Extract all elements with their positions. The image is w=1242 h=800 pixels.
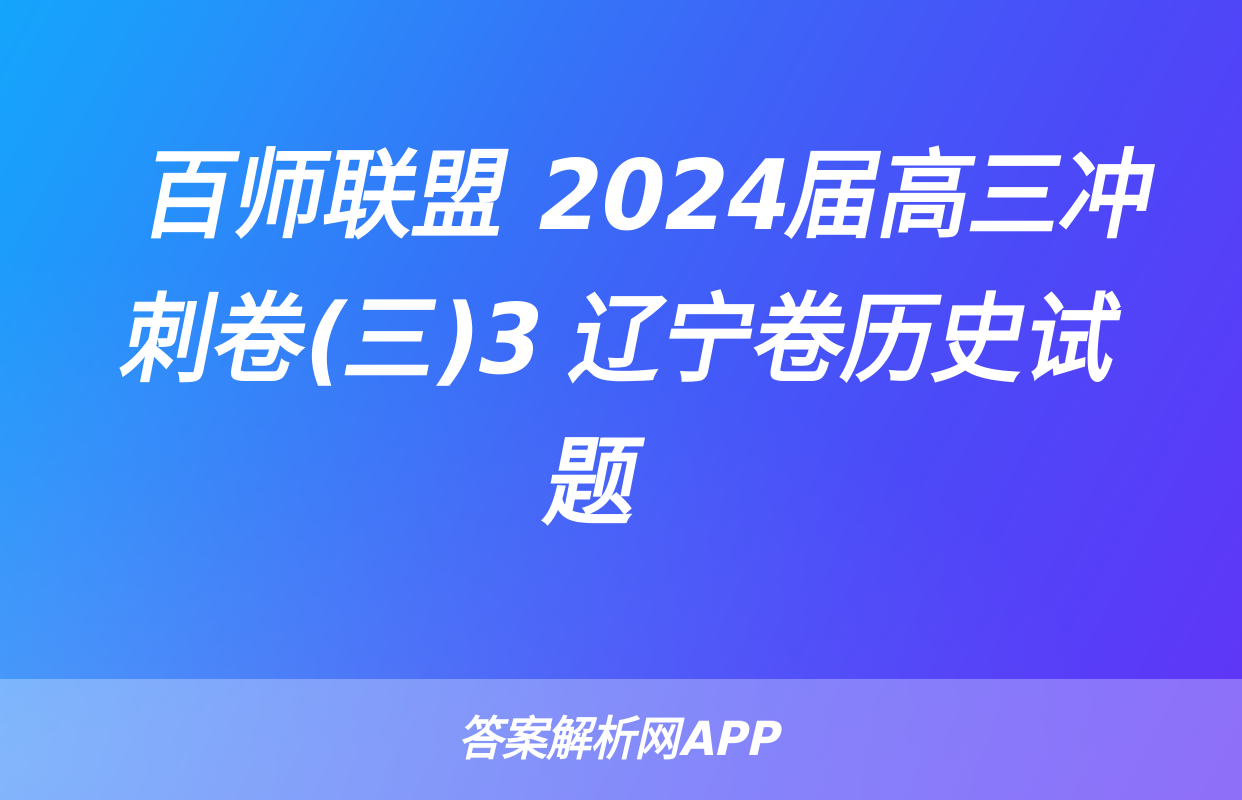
headline-container: 百师联盟 2024届高三冲刺卷(三)3 辽宁卷历史试题 — [0, 0, 1242, 679]
brand-watermark: 答案解析网APP — [456, 716, 786, 763]
footer-brand-band: 答案解析网APP — [0, 679, 1242, 800]
page-title: 百师联盟 2024届高三冲刺卷(三)3 辽宁卷历史试题 — [67, 124, 1175, 555]
title-card: 百师联盟 2024届高三冲刺卷(三)3 辽宁卷历史试题 答案解析网APP — [0, 0, 1242, 800]
